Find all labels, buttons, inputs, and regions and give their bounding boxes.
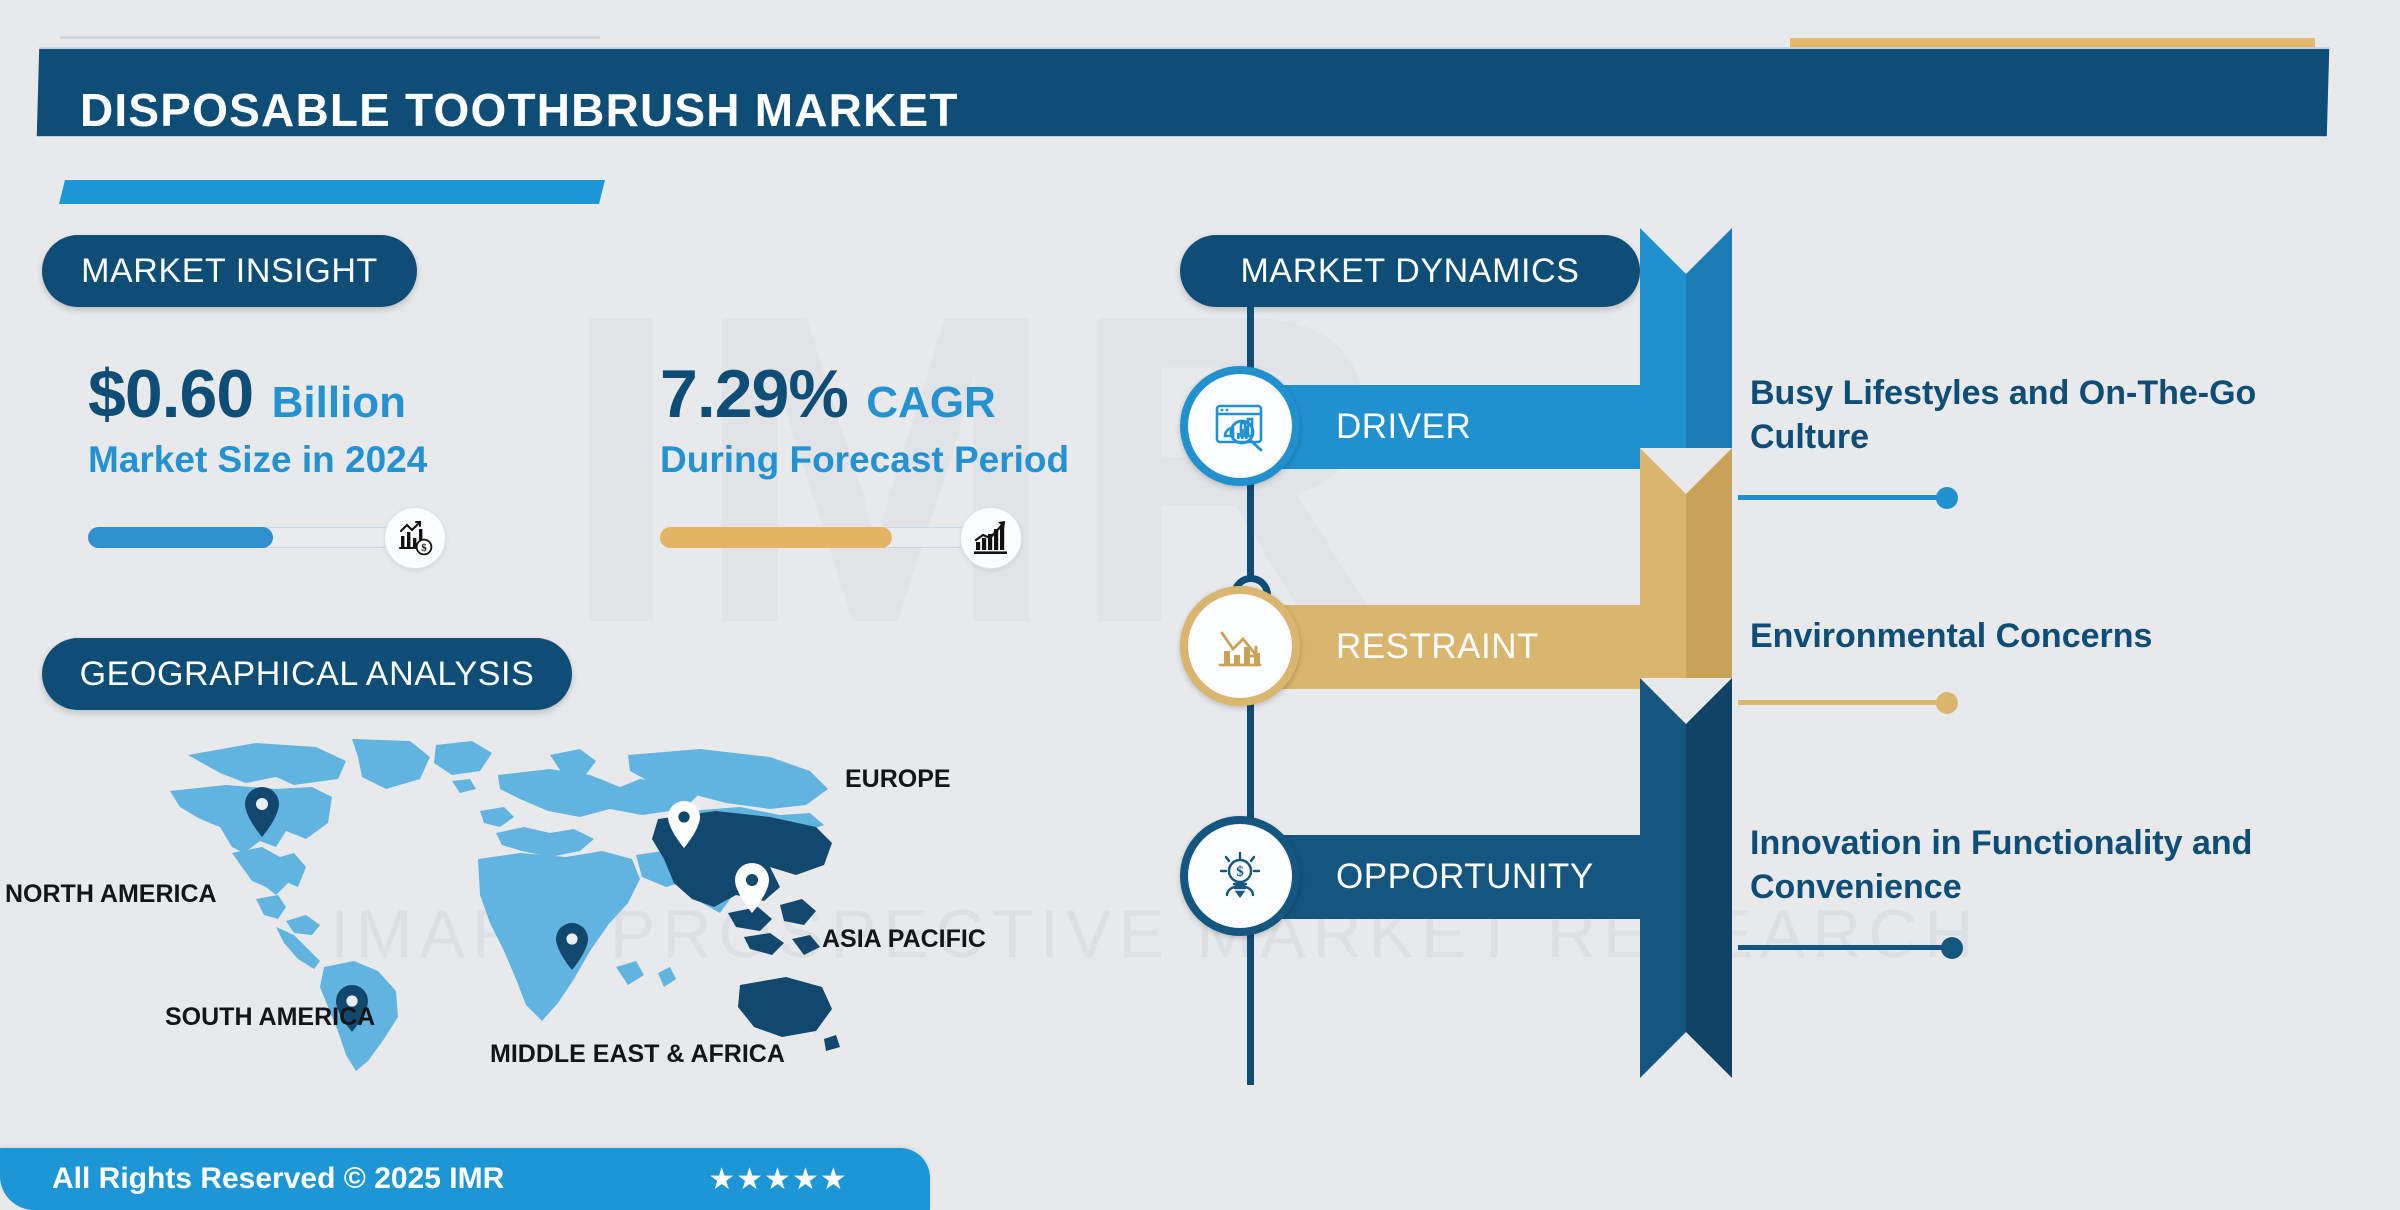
footer-bar: All Rights Reserved © 2025 IMR ★★★★★ <box>0 1148 930 1210</box>
map-label-asia-pacific: ASIA PACIFIC <box>822 925 986 954</box>
metric-value-row: 7.29% CAGR <box>660 355 1069 433</box>
section-label-geographical-analysis: GEOGRAPHICAL ANALYSIS <box>42 638 572 710</box>
declining-bar-chart-icon <box>1188 594 1292 698</box>
map-label-north-america: NORTH AMERICA <box>5 880 217 909</box>
dynamics-description-opportunity: Innovation in Functionality and Convenie… <box>1750 822 2310 909</box>
badge-driver <box>1180 366 1300 486</box>
map-pin-asia-pacific <box>735 863 769 913</box>
dynamics-label-driver: DRIVER <box>1336 407 1471 447</box>
dynamics-label-restraint: RESTRAINT <box>1336 627 1539 667</box>
header-lightblue-accent <box>59 180 605 204</box>
lightbulb-dollar-icon: $ <box>1188 824 1292 928</box>
metric-value-row: $0.60 Billion <box>88 355 427 433</box>
cagr-value: 7.29% <box>660 355 848 433</box>
market-size-progress: $ <box>88 507 427 569</box>
map-label-middle-east-africa: MIDDLE EAST & AFRICA <box>490 1040 785 1069</box>
dynamics-underline-opportunity <box>1738 945 1953 950</box>
section-label-market-insight: MARKET INSIGHT <box>42 235 417 307</box>
map-highlight-asia-pacific <box>652 811 840 1051</box>
dynamics-underline-dot <box>1936 692 1958 714</box>
svg-text:$: $ <box>421 542 427 554</box>
cagr-sublabel: During Forecast Period <box>660 439 1069 481</box>
progress-fill <box>660 527 892 548</box>
bar-chart-dollar-icon: $ <box>384 507 446 569</box>
footer-copyright: All Rights Reserved © 2025 IMR <box>52 1162 504 1196</box>
cagr-unit: CAGR <box>866 378 996 428</box>
badge-opportunity: $ <box>1180 816 1300 936</box>
svg-text:$: $ <box>1236 864 1244 880</box>
market-dynamics-diagram: DRIVER <box>1180 300 2400 1200</box>
ribbon-tail-opportunity <box>1640 678 1732 1078</box>
dynamics-description-restraint: Environmental Concerns <box>1750 615 2310 659</box>
page-title: DISPOSABLE TOOTHBRUSH MARKET <box>80 83 959 137</box>
map-label-south-america: SOUTH AMERICA <box>165 1003 375 1032</box>
dynamics-description-driver: Busy Lifestyles and On-The-Go Culture <box>1750 372 2310 459</box>
section-label-market-dynamics: MARKET DYNAMICS <box>1180 235 1640 307</box>
dynamics-underline-dot <box>1936 487 1958 509</box>
footer-rating-stars: ★★★★★ <box>708 1162 847 1197</box>
market-size-sublabel: Market Size in 2024 <box>88 439 427 481</box>
header-thin-rule <box>60 36 600 39</box>
dynamics-row-opportunity: OPPORTUNITY <box>1180 770 2400 1000</box>
badge-restraint <box>1180 586 1300 706</box>
dynamics-row-restraint: RESTRAINT <box>1180 540 2400 770</box>
metric-cagr: 7.29% CAGR During Forecast Period <box>660 355 1069 569</box>
cagr-progress <box>660 507 1069 569</box>
dynamics-underline-dot <box>1941 937 1963 959</box>
market-size-unit: Billion <box>272 378 406 428</box>
dynamics-underline-restraint <box>1738 700 1948 705</box>
map-label-europe: EUROPE <box>845 765 951 794</box>
infographic-canvas: IMR IMARC PROSPECTIVE MARKET RESEARCH DI… <box>0 0 2400 1210</box>
dynamics-underline-driver <box>1738 495 1948 500</box>
progress-fill <box>88 527 273 548</box>
growth-chart-arrow-icon <box>960 507 1022 569</box>
report-magnifier-icon <box>1188 374 1292 478</box>
market-size-value: $0.60 <box>88 355 253 433</box>
dynamics-label-opportunity: OPPORTUNITY <box>1336 857 1594 897</box>
metric-market-size: $0.60 Billion Market Size in 2024 <box>88 355 427 569</box>
dynamics-row-driver: DRIVER <box>1180 320 2400 550</box>
